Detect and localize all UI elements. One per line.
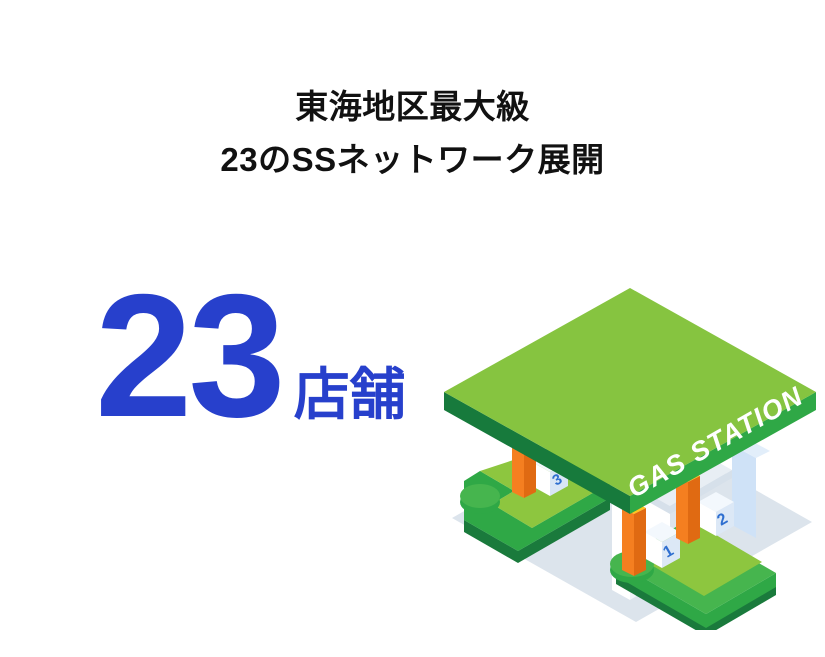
- left-island-round-end-top: [460, 484, 500, 508]
- heading-block: 東海地区最大級 23のSSネットワーク展開: [0, 90, 825, 176]
- stat-number: 23: [95, 285, 282, 429]
- stat-unit-label: 店舗: [294, 367, 406, 423]
- pump-2-body-right: [688, 476, 700, 544]
- stat-block: 23 店舗: [95, 285, 406, 429]
- gas-station-illustration: 3: [440, 270, 820, 630]
- stat-card: 東海地区最大級 23のSSネットワーク展開 23 店舗 3: [0, 0, 825, 657]
- pump-1-body-right: [634, 508, 646, 576]
- heading-line-1: 東海地区最大級: [0, 90, 825, 123]
- pump-1-body-left: [622, 508, 634, 576]
- heading-line-2: 23のSSネットワーク展開: [0, 143, 825, 176]
- gas-station-icon: 3: [440, 270, 820, 630]
- pump-3-body-left: [512, 446, 524, 498]
- kiosk-window-panel: [732, 445, 756, 538]
